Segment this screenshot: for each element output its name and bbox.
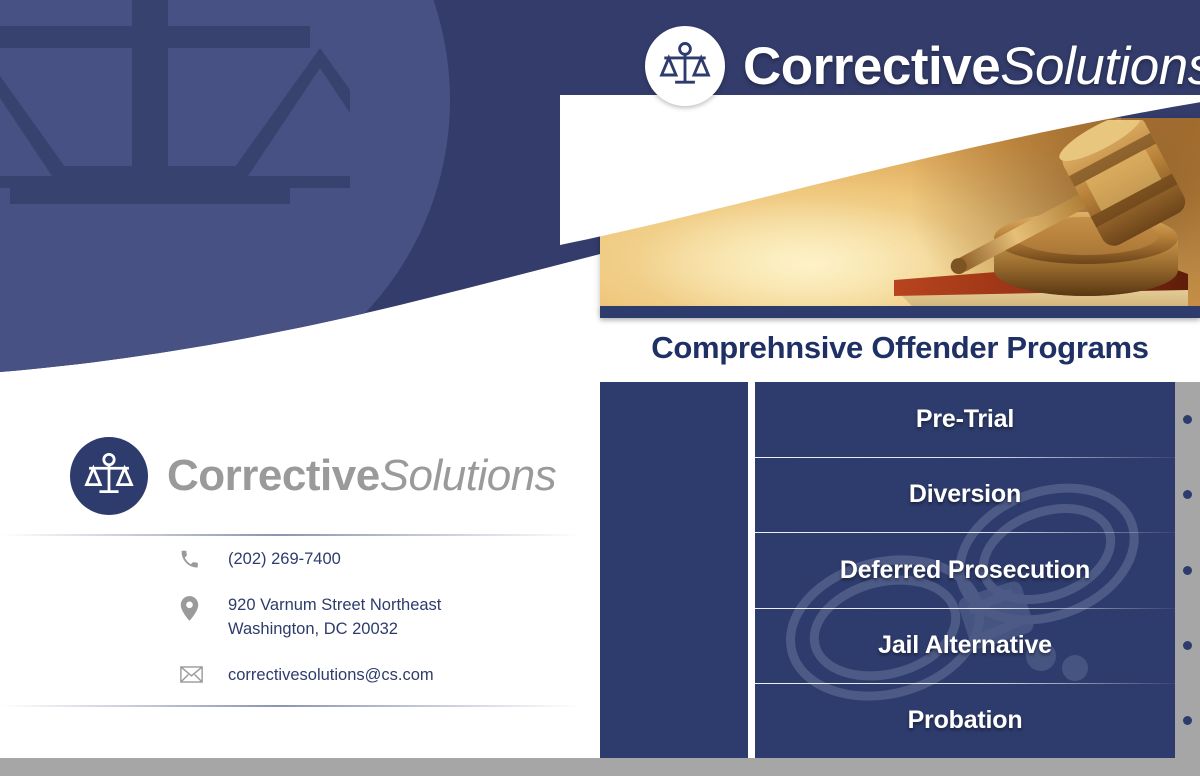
gavel-hero-image [600,118,1200,314]
program-row[interactable]: Jail Alternative [755,608,1175,683]
programs-panel: Pre-Trial Diversion Deferred Prosecution… [755,382,1175,758]
program-label: Jail Alternative [878,631,1052,660]
bullet-dot-icon [1183,716,1192,725]
footer-bar [0,758,1200,776]
address-line2: Washington, DC 20032 [228,618,441,642]
right-rail [1175,382,1200,758]
business-card-page: CorrectiveSolutions CorrectiveSolutions … [0,0,1200,776]
address-value: 920 Varnum Street Northeast Washington, … [228,594,441,642]
header-logo: CorrectiveSolutions [645,26,1200,106]
section-heading: Comprehnsive Offender Programs [600,330,1200,366]
envelope-icon [180,664,228,683]
rail-bullet-cell [1175,608,1200,683]
email-value: correctivesolutions@cs.com [228,664,434,688]
rail-bullet-cell [1175,683,1200,758]
footer-wordmark: CorrectiveSolutions [167,454,556,498]
program-row[interactable]: Deferred Prosecution [755,532,1175,607]
divider-top [0,534,580,536]
bullet-dot-icon [1183,490,1192,499]
program-row[interactable]: Pre-Trial [755,382,1175,457]
divider-bottom [0,705,580,707]
phone-value: (202) 269-7400 [228,548,341,572]
rail-bullet-cell [1175,532,1200,607]
program-label: Pre-Trial [916,405,1014,434]
program-row[interactable]: Probation [755,683,1175,758]
rail-bullet-list [1175,382,1200,758]
contact-list: (202) 269-7400 920 Varnum Street Northea… [180,548,600,688]
brand-name-italic: Solutions [1000,37,1200,96]
contact-email-row[interactable]: correctivesolutions@cs.com [180,664,600,688]
gavel-icon [854,120,1194,314]
program-label: Probation [908,706,1023,735]
bullet-dot-icon [1183,415,1192,424]
footer-logo: CorrectiveSolutions [70,437,556,515]
phone-icon [180,548,228,569]
brand-name-bold: Corrective [743,37,1000,96]
program-label: Diversion [909,480,1021,509]
rail-bullet-cell [1175,382,1200,457]
header-wordmark: CorrectiveSolutions [743,40,1200,93]
scales-of-justice-icon [645,26,725,106]
location-pin-icon [180,594,228,621]
address-line1: 920 Varnum Street Northeast [228,596,441,614]
contact-address-row[interactable]: 920 Varnum Street Northeast Washington, … [180,594,600,642]
rail-bullet-cell [1175,457,1200,532]
programs-list: Pre-Trial Diversion Deferred Prosecution… [755,382,1175,758]
bullet-dot-icon [1183,641,1192,650]
program-label: Deferred Prosecution [840,556,1090,585]
program-row[interactable]: Diversion [755,457,1175,532]
programs-side-panel [600,382,748,758]
bullet-dot-icon [1183,566,1192,575]
hero-underbar [600,306,1200,318]
brand-name-bold: Corrective [167,451,380,500]
brand-name-italic: Solutions [380,451,557,500]
scales-of-justice-icon [70,437,148,515]
contact-phone-row[interactable]: (202) 269-7400 [180,548,600,572]
watermark-scales-of-justice-icon [0,0,350,290]
